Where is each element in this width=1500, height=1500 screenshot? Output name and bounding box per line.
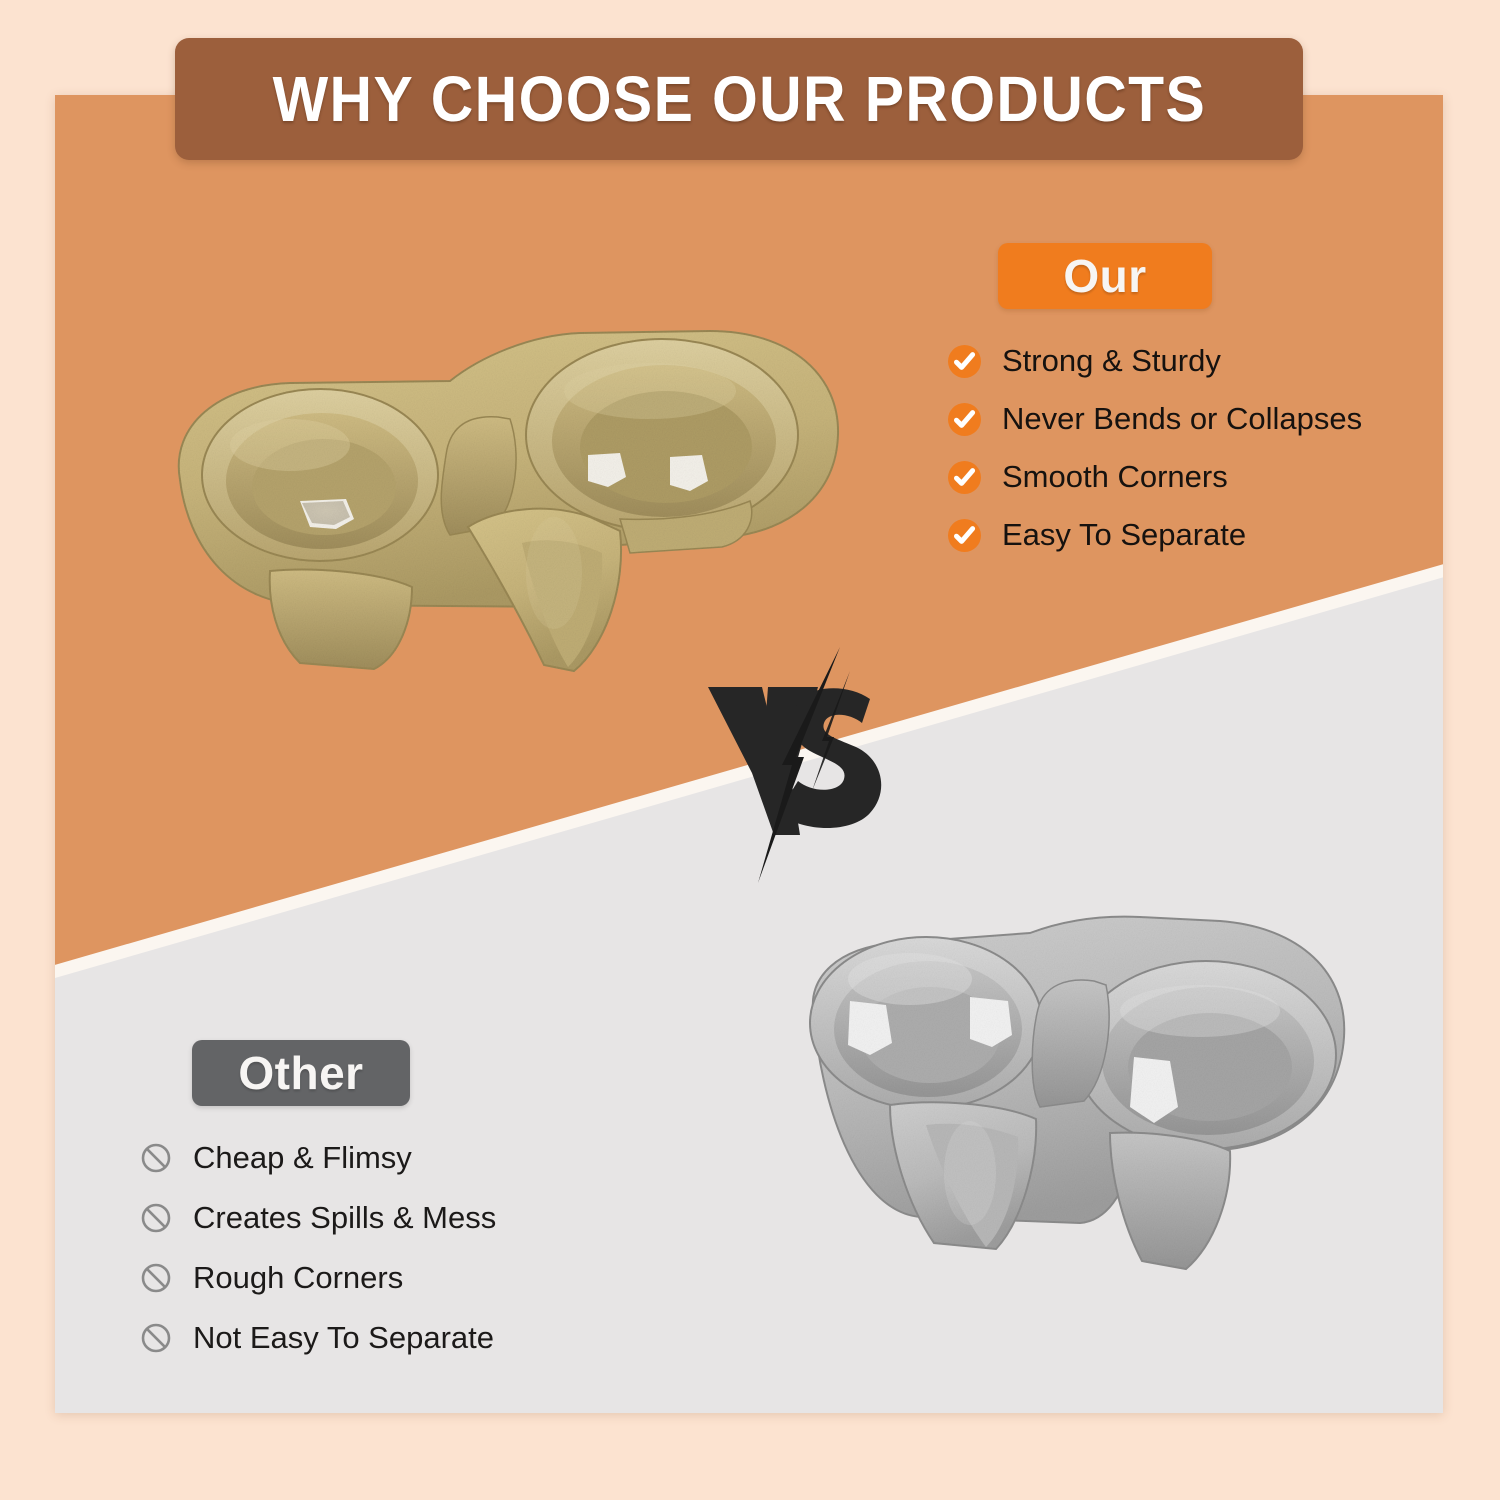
- check-circle-icon: [948, 403, 981, 436]
- list-item-label: Creates Spills & Mess: [193, 1200, 496, 1236]
- versus-mark: [700, 645, 910, 885]
- prohibited-icon: [140, 1202, 172, 1234]
- title-banner: WHY CHOOSE OUR PRODUCTS: [175, 38, 1303, 160]
- our-badge: Our: [998, 243, 1212, 309]
- other-product-image: [800, 905, 1360, 1295]
- prohibited-icon: [140, 1142, 172, 1174]
- list-item: Cheap & Flimsy: [140, 1140, 610, 1176]
- other-badge-label: Other: [238, 1046, 363, 1100]
- list-item-label: Never Bends or Collapses: [1002, 401, 1362, 437]
- check-circle-icon: [948, 461, 981, 494]
- check-circle-icon: [948, 345, 981, 378]
- list-item: Creates Spills & Mess: [140, 1200, 610, 1236]
- check-circle-icon: [948, 519, 981, 552]
- list-item: Rough Corners: [140, 1260, 610, 1296]
- list-item-label: Not Easy To Separate: [193, 1320, 494, 1356]
- list-item: Not Easy To Separate: [140, 1320, 610, 1356]
- other-badge: Other: [192, 1040, 410, 1106]
- list-item: Smooth Corners: [948, 459, 1418, 495]
- list-item: Easy To Separate: [948, 517, 1418, 553]
- list-item-label: Smooth Corners: [1002, 459, 1228, 495]
- list-item-label: Strong & Sturdy: [1002, 343, 1221, 379]
- our-feature-list: Strong & Sturdy Never Bends or Collapses…: [948, 343, 1418, 575]
- prohibited-icon: [140, 1262, 172, 1294]
- prohibited-icon: [140, 1322, 172, 1354]
- our-product-image: [150, 305, 850, 680]
- list-item-label: Easy To Separate: [1002, 517, 1246, 553]
- our-badge-label: Our: [1063, 249, 1146, 303]
- list-item: Never Bends or Collapses: [948, 401, 1418, 437]
- other-feature-list: Cheap & Flimsy Creates Spills & Mess Rou…: [140, 1140, 610, 1380]
- list-item: Strong & Sturdy: [948, 343, 1418, 379]
- page-title: WHY CHOOSE OUR PRODUCTS: [272, 62, 1206, 136]
- list-item-label: Rough Corners: [193, 1260, 403, 1296]
- list-item-label: Cheap & Flimsy: [193, 1140, 412, 1176]
- infographic-root: WHY CHOOSE OUR PRODUCTS: [0, 0, 1500, 1500]
